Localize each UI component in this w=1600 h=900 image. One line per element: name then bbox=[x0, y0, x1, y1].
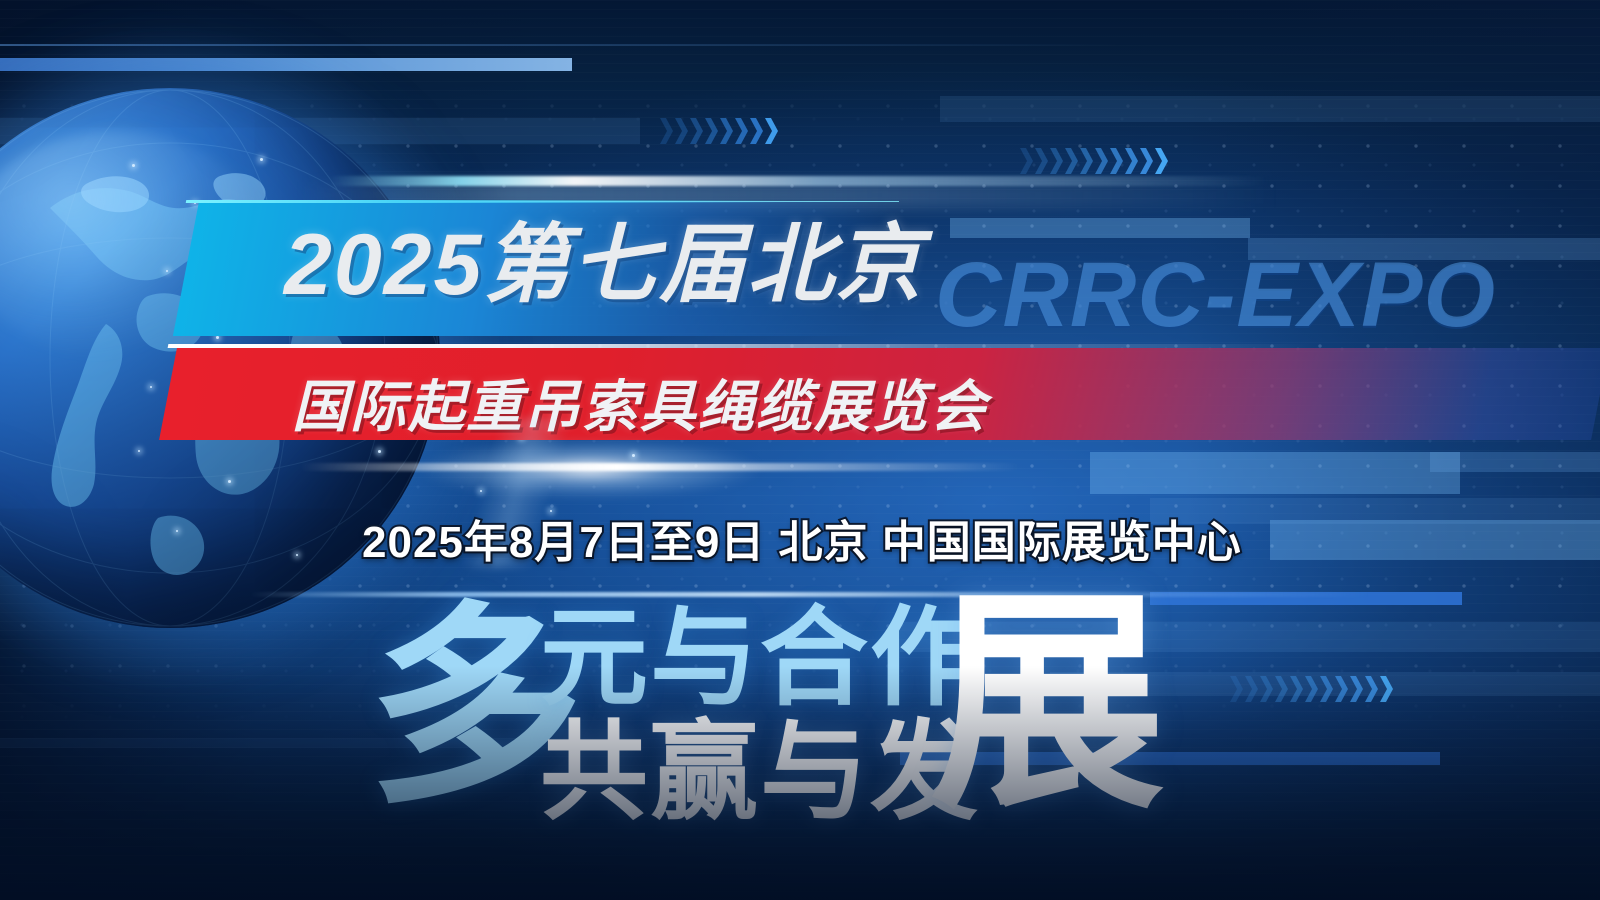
background-bottom-fade bbox=[0, 0, 1600, 900]
exhibition-poster: CRRC-EXPO 2025第七届北京 国际起重吊索具绳缆展览会 2025年8月… bbox=[0, 0, 1600, 900]
